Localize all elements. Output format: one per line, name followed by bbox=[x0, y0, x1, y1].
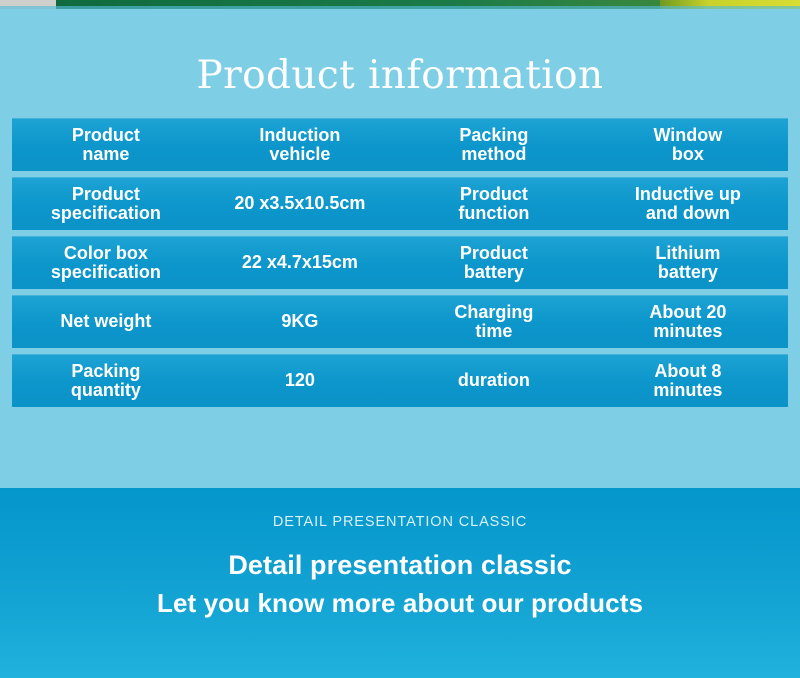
table-row: Net weight 9KG Charging time Abo bbox=[12, 295, 788, 348]
table-row: Packing quantity 120 duration Ab bbox=[12, 354, 788, 407]
cell-text: Lithium bbox=[655, 243, 720, 263]
cell-text: Packing bbox=[71, 361, 140, 381]
detail-presentation-section: DETAIL PRESENTATION CLASSIC Detail prese… bbox=[0, 488, 800, 678]
cell-text: Product bbox=[460, 243, 528, 263]
cell-value-color-box-specification: 22 x4.7x15cm bbox=[200, 236, 400, 289]
cell-text: Packing bbox=[459, 125, 528, 145]
cell-value-packing-quantity: 120 bbox=[200, 354, 400, 407]
cell-text: Window bbox=[653, 125, 722, 145]
cell-value-product-battery: Lithium battery bbox=[588, 236, 788, 289]
cell-text: duration bbox=[458, 370, 530, 390]
cell-value-product-specification: 20 x3.5x10.5cm bbox=[200, 177, 400, 230]
cell-text: About 20 bbox=[649, 302, 726, 322]
detail-heading: Detail presentation classic bbox=[0, 550, 800, 581]
cell-text: minutes bbox=[653, 381, 722, 400]
detail-subheading: Let you know more about our products bbox=[0, 588, 800, 619]
cell-value-duration: About 8 minutes bbox=[588, 354, 788, 407]
product-information-page: Product information Product name Inducti… bbox=[0, 0, 800, 678]
cell-text: function bbox=[458, 204, 529, 223]
cell-label-color-box-specification: Color box specification bbox=[12, 236, 200, 289]
cell-text: method bbox=[459, 145, 528, 164]
cell-value-packing-method: Window box bbox=[588, 118, 788, 171]
cell-text: Product bbox=[72, 184, 140, 204]
product-information-section: Product information Product name Inducti… bbox=[0, 9, 800, 488]
cell-text: Inductive up bbox=[635, 184, 741, 204]
table-row: Product specification 20 x3.5x10.5cm Pro… bbox=[12, 177, 788, 230]
cell-text: Color box bbox=[64, 243, 148, 263]
cell-label-product-name: Product name bbox=[12, 118, 200, 171]
cell-text: battery bbox=[460, 263, 528, 282]
cell-text: Charging bbox=[454, 302, 533, 322]
cell-value-product-name: Induction vehicle bbox=[200, 118, 400, 171]
cell-text: minutes bbox=[649, 322, 726, 341]
cell-text: and down bbox=[635, 204, 741, 223]
cell-text: specification bbox=[51, 204, 161, 223]
top-photo-strip bbox=[0, 0, 800, 9]
cell-text: specification bbox=[51, 263, 161, 282]
page-title: Product information bbox=[0, 53, 800, 98]
cell-text: About 8 bbox=[654, 361, 721, 381]
cell-text: box bbox=[653, 145, 722, 164]
cell-value-product-function: Inductive up and down bbox=[588, 177, 788, 230]
table-row: Product name Induction vehicle Packing m… bbox=[12, 118, 788, 171]
cell-text: 9KG bbox=[281, 311, 318, 331]
detail-kicker-text: DETAIL PRESENTATION CLASSIC bbox=[0, 514, 800, 530]
table-row: Color box specification 22 x4.7x15cm Pro… bbox=[12, 236, 788, 289]
cell-label-packing-method: Packing method bbox=[400, 118, 588, 171]
cell-text: Product bbox=[72, 125, 140, 145]
specification-table: Product name Induction vehicle Packing m… bbox=[12, 118, 788, 413]
cell-label-packing-quantity: Packing quantity bbox=[12, 354, 200, 407]
cell-value-net-weight: 9KG bbox=[200, 295, 400, 348]
cell-text: vehicle bbox=[259, 145, 340, 164]
cell-label-product-function: Product function bbox=[400, 177, 588, 230]
cell-text: name bbox=[72, 145, 140, 164]
cell-label-charging-time: Charging time bbox=[400, 295, 588, 348]
cell-label-duration: duration bbox=[400, 354, 588, 407]
cell-text: 22 x4.7x15cm bbox=[242, 252, 358, 272]
cell-text: battery bbox=[655, 263, 720, 282]
cell-text: time bbox=[454, 322, 533, 341]
cell-text: 120 bbox=[285, 370, 315, 390]
cell-text: quantity bbox=[71, 381, 141, 400]
cell-text: Net weight bbox=[60, 311, 151, 331]
cell-text: 20 x3.5x10.5cm bbox=[234, 193, 365, 213]
cell-label-net-weight: Net weight bbox=[12, 295, 200, 348]
cell-text: Induction bbox=[259, 125, 340, 145]
cell-value-charging-time: About 20 minutes bbox=[588, 295, 788, 348]
cell-text: Product bbox=[460, 184, 528, 204]
cell-label-product-battery: Product battery bbox=[400, 236, 588, 289]
cell-label-product-specification: Product specification bbox=[12, 177, 200, 230]
